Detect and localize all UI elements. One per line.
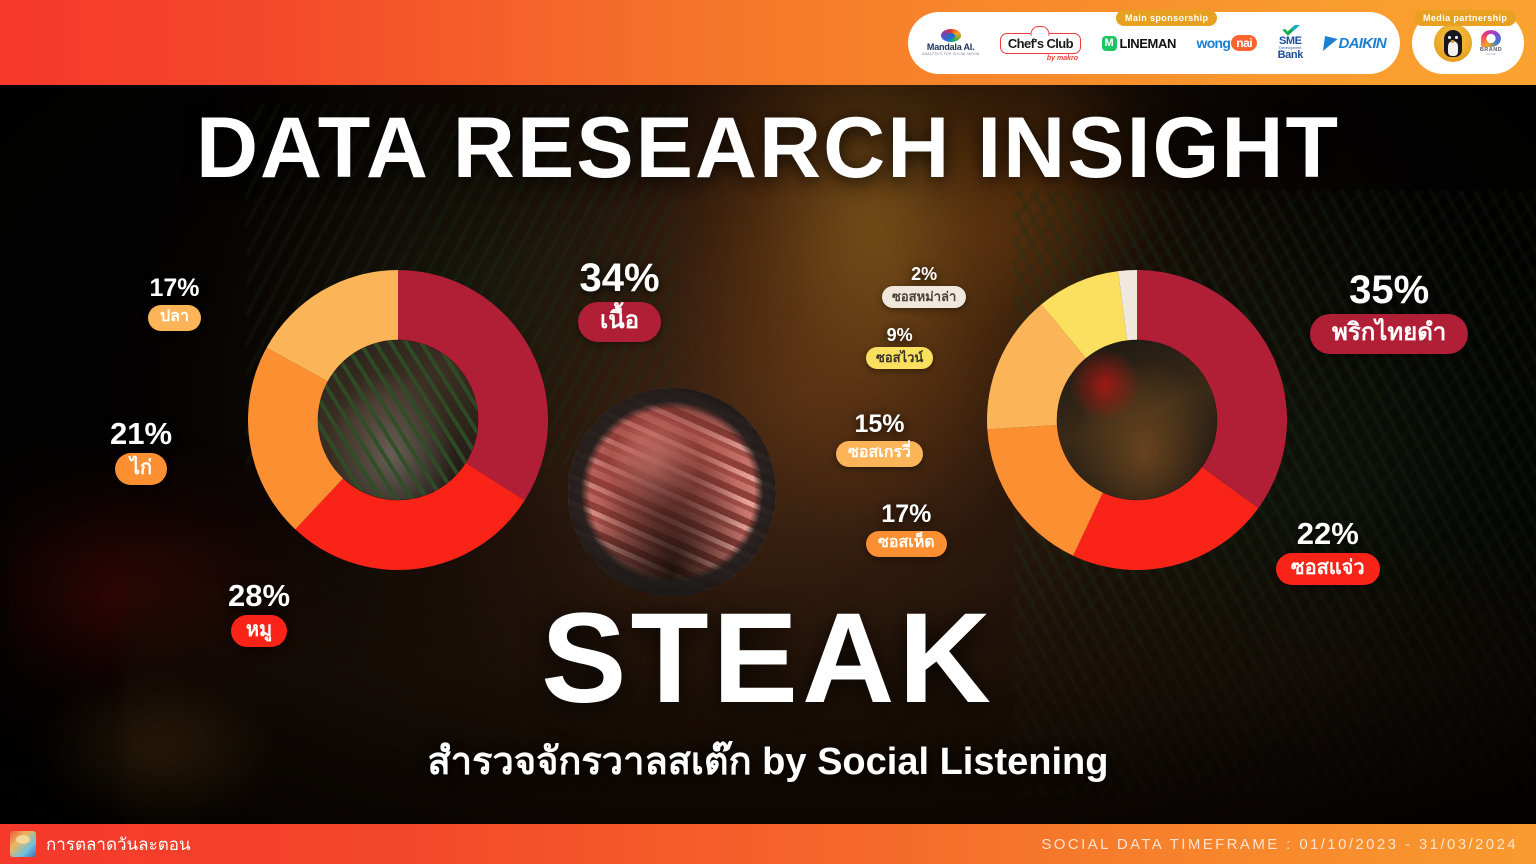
- label-fish-pct: 17%: [149, 276, 199, 301]
- label-wine-name: ซอสไวน์: [866, 347, 933, 369]
- logo-mandala-ai[interactable]: Mandala AI. ANALYTICS FOR SOCIAL MEDIA: [922, 29, 979, 57]
- label-chicken: 21% ไก่: [110, 418, 172, 485]
- sauce-donut-center-photo: [1057, 340, 1217, 500]
- label-mushroom-sauce: 17% ซอสเห็ด: [866, 502, 947, 557]
- brand-swirl-icon: [1481, 30, 1501, 47]
- label-chicken-name: ไก่: [115, 453, 167, 485]
- label-fish-name: ปลา: [148, 305, 201, 331]
- logo-daikin-text: DAIKIN: [1339, 35, 1386, 52]
- media-partnership-tag: Media partnership: [1414, 10, 1516, 26]
- daikin-triangle-icon: [1322, 36, 1337, 51]
- logo-lineman-text: LINEMAN: [1120, 36, 1176, 51]
- label-gravy-sauce: 15% ซอสเกรวี่: [836, 412, 923, 467]
- label-jaew-name: ซอสแจ่ว: [1276, 553, 1380, 585]
- logo-chefs-club-sub: by makro: [1047, 55, 1078, 62]
- footer-bar: การตลาดวันละตอน SOCIAL DATA TIMEFRAME : …: [0, 824, 1536, 864]
- label-black-pepper: 35% พริกไทยดำ: [1310, 270, 1468, 354]
- label-gravy-pct: 15%: [854, 412, 904, 437]
- label-black-pepper-name: พริกไทยดำ: [1310, 314, 1468, 354]
- header-bar: Mandala AI. ANALYTICS FOR SOCIAL MEDIA C…: [0, 0, 1536, 85]
- label-mala-sauce: 2% ซอสหม่าล่า: [882, 265, 966, 308]
- logo-mandala-text: Mandala AI.: [927, 43, 974, 52]
- logo-lineman[interactable]: M LINEMAN: [1102, 36, 1176, 51]
- footer-brand-logo-icon[interactable]: [10, 831, 36, 857]
- logo-daikin[interactable]: DAIKIN: [1324, 35, 1386, 52]
- logo-wongnai-part1: wong: [1197, 35, 1231, 51]
- infographic-canvas: Mandala AI. ANALYTICS FOR SOCIAL MEDIA C…: [0, 0, 1536, 864]
- label-beef-pct: 34%: [579, 258, 659, 298]
- logo-chefs-club[interactable]: Chef's Club by makro: [1000, 33, 1081, 54]
- steak-photo-circle: [568, 388, 776, 596]
- page-title: DATA RESEARCH INSIGHT: [0, 105, 1536, 191]
- logo-sme-bank[interactable]: SME Development Bank: [1278, 25, 1303, 62]
- logo-wongnai[interactable]: wong nai: [1197, 35, 1258, 51]
- chef-hat-icon: [1031, 26, 1050, 36]
- steak-headline: STEAK: [0, 595, 1536, 723]
- label-jaew-pct: 22%: [1297, 518, 1359, 549]
- steak-subtitle: สำรวจจักรวาลสเต๊ก by Social Listening: [0, 742, 1536, 784]
- mandala-ring-icon: [941, 29, 961, 42]
- footer-timeframe: SOCIAL DATA TIMEFRAME : 01/10/2023 - 31/…: [1041, 836, 1518, 853]
- footer-brand-name: การตลาดวันละตอน: [46, 836, 191, 853]
- logo-chefs-club-text: Chef's Club: [1008, 37, 1073, 50]
- label-mushroom-pct: 17%: [881, 502, 931, 527]
- label-mala-pct: 2%: [911, 265, 937, 283]
- label-gravy-name: ซอสเกรวี่: [836, 441, 923, 467]
- label-beef: 34% เนื้อ: [578, 258, 661, 342]
- logo-sme-line3: Bank: [1278, 50, 1303, 61]
- label-fish: 17% ปลา: [148, 276, 201, 331]
- logo-mandala-tagline: ANALYTICS FOR SOCIAL MEDIA: [922, 53, 979, 57]
- penguin-avatar-icon[interactable]: [1434, 24, 1472, 62]
- label-mushroom-name: ซอสเห็ด: [866, 531, 947, 557]
- logo-brand-sub: INSIDE: [1486, 53, 1496, 56]
- lineman-mark-icon: M: [1102, 36, 1117, 51]
- logo-wongnai-part2: nai: [1231, 35, 1257, 51]
- label-wine-sauce: 9% ซอสไวน์: [866, 326, 933, 369]
- label-jaew-sauce: 22% ซอสแจ่ว: [1276, 518, 1380, 585]
- protein-donut-center-photo: [318, 340, 478, 500]
- label-chicken-pct: 21%: [110, 418, 172, 449]
- main-sponsorship-tag: Main sponsorship: [1116, 10, 1217, 26]
- label-beef-name: เนื้อ: [578, 302, 661, 342]
- label-mala-name: ซอสหม่าล่า: [882, 286, 966, 308]
- logo-brand-inside[interactable]: BRAND INSIDE: [1480, 30, 1502, 56]
- label-wine-pct: 9%: [887, 326, 913, 344]
- label-black-pepper-pct: 35%: [1349, 270, 1429, 310]
